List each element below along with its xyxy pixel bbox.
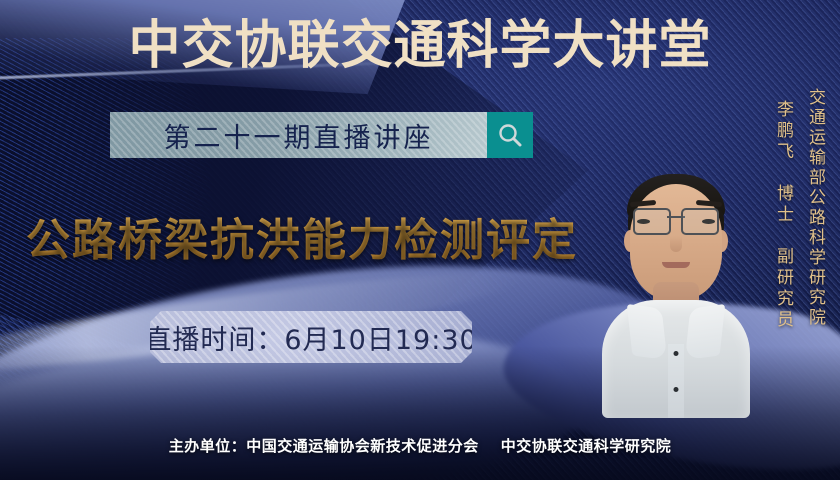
subtitle-label: 第二十一期直播讲座 xyxy=(164,116,434,155)
portrait-mouth xyxy=(662,262,690,268)
portrait-lens-left xyxy=(633,208,671,235)
webinar-poster: 中交协联交通科学大讲堂 第二十一期直播讲座 公路桥梁抗洪能力检测评定 直播时间：… xyxy=(0,0,840,480)
speaker-name: 李鹏飞 博士 副研究员 xyxy=(771,100,796,331)
portrait-shirt-button-top xyxy=(674,351,679,356)
portrait-lens-right xyxy=(681,208,719,235)
footer-org-primary: 中国交通运输协会新技术促进分会 xyxy=(246,437,479,455)
speaker-institute: 交通运输部公路科学研究院 xyxy=(803,88,828,328)
broadcast-time-banner: 直播时间：6月10日19:30 xyxy=(150,311,472,363)
speaker-portrait xyxy=(600,128,752,418)
page-title: 中交协联交通科学大讲堂 xyxy=(0,16,840,77)
search-icon[interactable] xyxy=(487,112,533,158)
footer-org-secondary: 中交协联交通科学研究院 xyxy=(501,437,672,455)
lecture-headline: 公路桥梁抗洪能力检测评定 xyxy=(26,204,578,268)
portrait-glasses xyxy=(633,208,719,232)
subtitle-bar: 第二十一期直播讲座 xyxy=(110,112,487,158)
footer-organizers: 主办单位：中国交通运输协会新技术促进分会中交协联交通科学研究院 xyxy=(0,435,840,456)
portrait-nose xyxy=(670,236,682,252)
portrait-collar-right xyxy=(685,304,725,360)
broadcast-time-text: 直播时间：6月10日19:30 xyxy=(150,318,472,357)
portrait-shirt-button-bottom xyxy=(674,387,679,392)
footer-label: 主办单位： xyxy=(169,437,247,455)
